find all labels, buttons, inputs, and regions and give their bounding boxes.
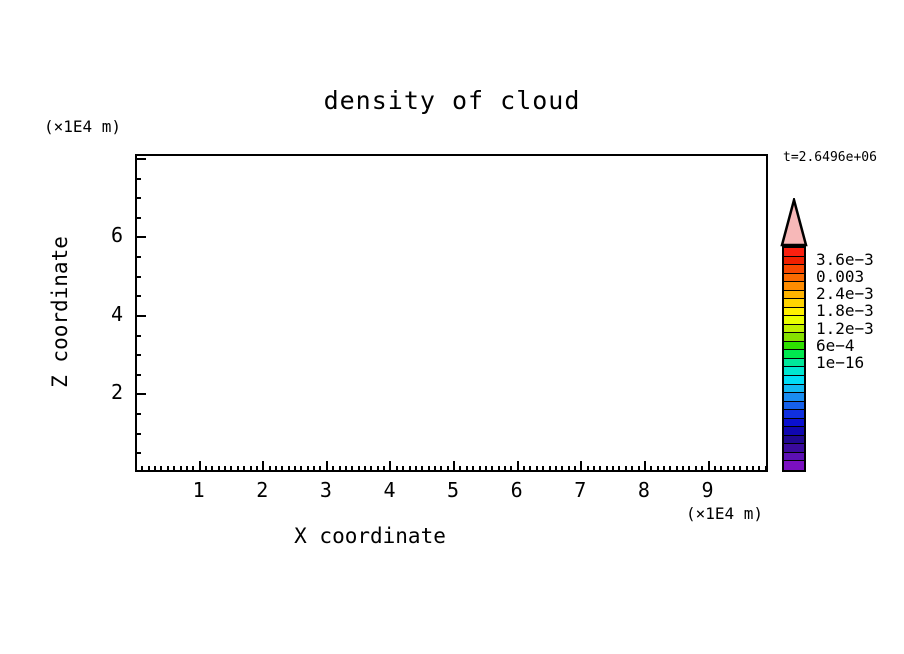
colorbar-labels: 3.6e−30.0032.4e−31.8e−31.2e−36e−41e−16 [0, 0, 904, 654]
colorbar-tick-label: 1e−16 [816, 353, 864, 372]
